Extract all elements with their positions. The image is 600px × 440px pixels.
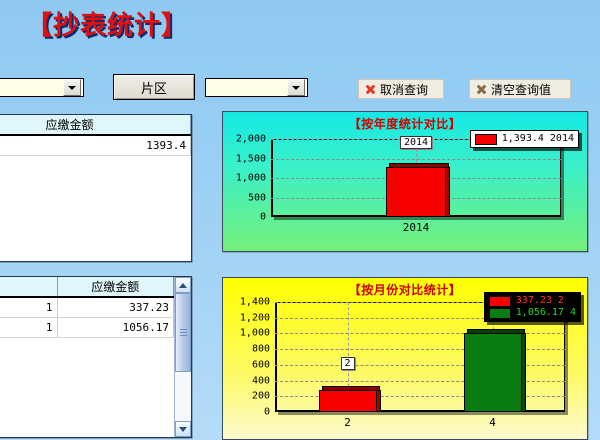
cell-amount: 1056.17 xyxy=(57,318,174,338)
scroll-up-icon[interactable] xyxy=(175,277,191,293)
chevron-down-icon[interactable] xyxy=(287,79,305,96)
x-axis-tick-label: 2014 xyxy=(403,221,430,234)
legend-swatch-icon xyxy=(489,296,511,307)
chart-bar[interactable] xyxy=(386,163,446,217)
detail-table[interactable]: 应缴金额 1 337.23 1 1056.17 xyxy=(0,276,192,438)
table-header-row: 应缴金额 xyxy=(0,277,174,297)
legend-swatch-icon xyxy=(489,308,511,319)
column-header-amount[interactable]: 应缴金额 xyxy=(0,115,191,135)
detail-table-body: 应缴金额 1 337.23 1 1056.17 xyxy=(0,277,174,437)
y-axis-tick-label: 1,500 xyxy=(236,153,266,164)
cancel-query-label: 取消查询 xyxy=(380,81,428,98)
scrollbar-track[interactable] xyxy=(175,293,191,421)
y-axis-tick-label: 0 xyxy=(260,212,266,223)
scroll-down-icon[interactable] xyxy=(175,421,191,437)
legend-item: 1,393.4 2014 xyxy=(475,133,574,145)
cancel-query-button[interactable]: 取消查询 xyxy=(358,79,444,99)
clear-query-button[interactable]: 清空查询值 xyxy=(469,79,571,99)
y-axis-tick-label: 1,000 xyxy=(236,173,266,184)
x-axis-tick-label: 4 xyxy=(489,416,496,429)
pianqu-button[interactable]: 片区 xyxy=(113,74,195,100)
bar-side-face xyxy=(377,390,381,412)
yearly-comparison-chart[interactable]: 【按年度统计对比】 05001,0001,5002,00020142014 1,… xyxy=(222,111,588,252)
area-select-left[interactable] xyxy=(0,78,84,97)
y-axis-tick-label: 0 xyxy=(264,407,270,418)
legend-label: 337.23 2 xyxy=(516,295,564,307)
table-filler-row xyxy=(0,156,191,262)
detail-table-scrollbar[interactable] xyxy=(174,277,191,437)
yearly-chart-plot: 05001,0001,5002,00020142014 xyxy=(271,139,561,217)
y-axis-tick-label: 400 xyxy=(252,375,270,386)
summary-table-element: 应缴金额 1393.4 xyxy=(0,115,191,261)
monthly-chart-legend[interactable]: 337.23 2 1,056.17 4 xyxy=(484,292,581,322)
legend-label: 1,056.17 4 xyxy=(516,307,576,319)
y-axis-tick-label: 500 xyxy=(248,192,266,203)
bar-data-label: 2014 xyxy=(400,136,432,149)
area-select-right[interactable] xyxy=(205,78,308,97)
y-axis-tick-label: 1,400 xyxy=(240,297,270,308)
x-axis-tick-label: 2 xyxy=(344,416,351,429)
table-row[interactable]: 1393.4 xyxy=(0,135,191,156)
scrollbar-thumb[interactable] xyxy=(175,293,191,372)
column-header-blank[interactable] xyxy=(0,277,57,297)
legend-label: 1,393.4 2014 xyxy=(502,133,574,145)
bar-front-face xyxy=(386,167,446,217)
table-header-row: 应缴金额 xyxy=(0,115,191,135)
summary-table-body: 应缴金额 1393.4 xyxy=(0,115,191,261)
detail-table-element: 应缴金额 1 337.23 1 1056.17 xyxy=(0,277,174,437)
column-header-amount[interactable]: 应缴金额 xyxy=(57,277,174,297)
cell-amount: 1393.4 xyxy=(0,135,191,156)
page-title: 【抄表统计】 xyxy=(26,11,188,41)
y-axis-tick-label: 2,000 xyxy=(236,134,266,145)
table-row[interactable]: 1 337.23 xyxy=(0,297,174,318)
table-row[interactable]: 1 1056.17 xyxy=(0,318,174,338)
cell-count: 1 xyxy=(0,318,57,338)
cancel-x-icon xyxy=(365,84,376,95)
clear-query-label: 清空查询值 xyxy=(491,81,551,98)
y-axis-tick-label: 1,200 xyxy=(240,312,270,323)
bar-side-face xyxy=(446,167,450,217)
chart-bar[interactable] xyxy=(464,329,522,412)
bar-side-face xyxy=(522,333,526,412)
y-axis-tick-label: 1,000 xyxy=(240,328,270,339)
chart-bar[interactable] xyxy=(319,386,377,412)
legend-item: 1,056.17 4 xyxy=(489,307,576,319)
chevron-down-icon[interactable] xyxy=(63,79,81,96)
yearly-chart-legend[interactable]: 1,393.4 2014 xyxy=(470,130,579,148)
legend-swatch-icon xyxy=(475,134,497,145)
table-filler-row xyxy=(0,338,174,438)
clear-x-icon xyxy=(476,84,487,95)
cell-count: 1 xyxy=(0,297,57,318)
bar-front-face xyxy=(319,390,377,412)
legend-item: 337.23 2 xyxy=(489,295,576,307)
monthly-comparison-chart[interactable]: 【按月份对比统计】 02004006008001,0001,2001,40022… xyxy=(222,277,588,440)
summary-table[interactable]: 应缴金额 1393.4 xyxy=(0,114,192,262)
bar-front-face xyxy=(464,333,522,412)
bar-data-label: 2 xyxy=(340,357,354,370)
y-axis-tick-label: 800 xyxy=(252,344,270,355)
scrollbar-grip-icon xyxy=(180,329,187,336)
y-axis-tick-label: 600 xyxy=(252,359,270,370)
y-axis-tick-label: 200 xyxy=(252,391,270,402)
cell-amount: 337.23 xyxy=(57,297,174,318)
